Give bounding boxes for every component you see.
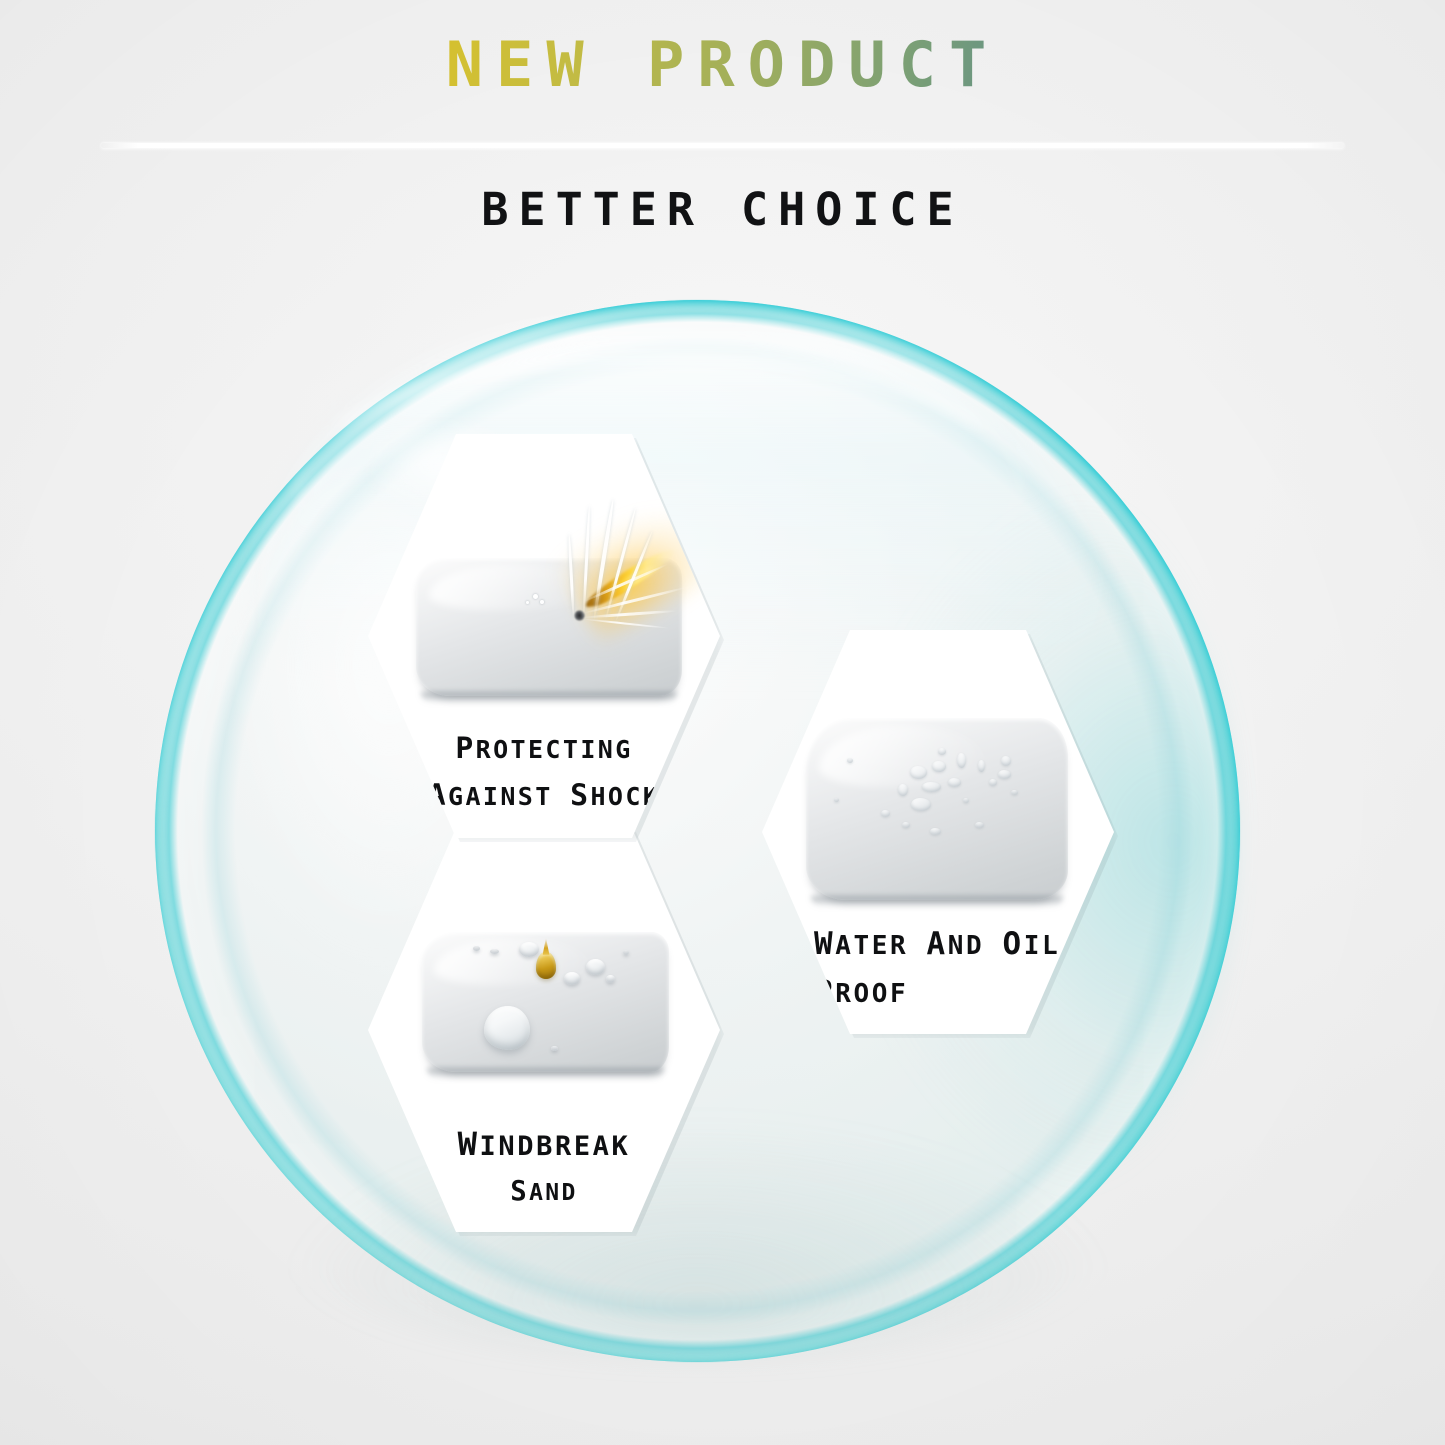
water-film-7: [957, 753, 966, 768]
water-drop-tiny-2: [473, 946, 480, 951]
water-film-10: [998, 770, 1011, 779]
debris-3: [526, 601, 529, 604]
oil-drop-gold: [536, 952, 556, 979]
water-film-16: [975, 822, 984, 828]
water-film-15: [930, 828, 941, 835]
page-subtitle: BETTER CHOICE: [0, 183, 1445, 236]
water-film-6: [911, 798, 931, 811]
water-film-2: [932, 761, 946, 772]
water-film-9: [978, 760, 985, 772]
infographic-canvas: WINDBREAK SAND: [0, 0, 1445, 1445]
water-drop-tiny-4: [623, 950, 629, 955]
water-film-20: [963, 798, 969, 803]
water-film-17: [1011, 790, 1018, 795]
water-film-14: [902, 822, 910, 828]
water-film-13: [881, 810, 890, 817]
water-film-19: [834, 798, 839, 802]
water-film-12: [989, 779, 997, 786]
water-film-8: [938, 748, 946, 755]
header-divider: [101, 143, 1344, 148]
debris-2: [540, 600, 544, 604]
page-title: NEW PRODUCT: [0, 34, 1445, 96]
water-drop-tiny-5: [551, 1046, 558, 1051]
water-film-18: [847, 758, 853, 763]
water-film-11: [1001, 756, 1011, 766]
water-drop-large: [484, 1006, 530, 1050]
water-film-1: [910, 766, 927, 779]
water-drop-small-1: [519, 942, 539, 957]
debris-1: [533, 594, 538, 599]
water-drop-small-2: [564, 972, 580, 985]
water-film-4: [948, 778, 961, 787]
bubble-bottom-shade: [274, 1118, 1120, 1352]
water-drop-tiny-1: [606, 975, 615, 983]
water-film-3: [922, 782, 941, 792]
lens-image-waterproof: [806, 718, 1068, 900]
water-drop-tiny-3: [490, 949, 499, 954]
water-film-5: [898, 784, 908, 796]
water-drop-small-3: [586, 959, 605, 975]
